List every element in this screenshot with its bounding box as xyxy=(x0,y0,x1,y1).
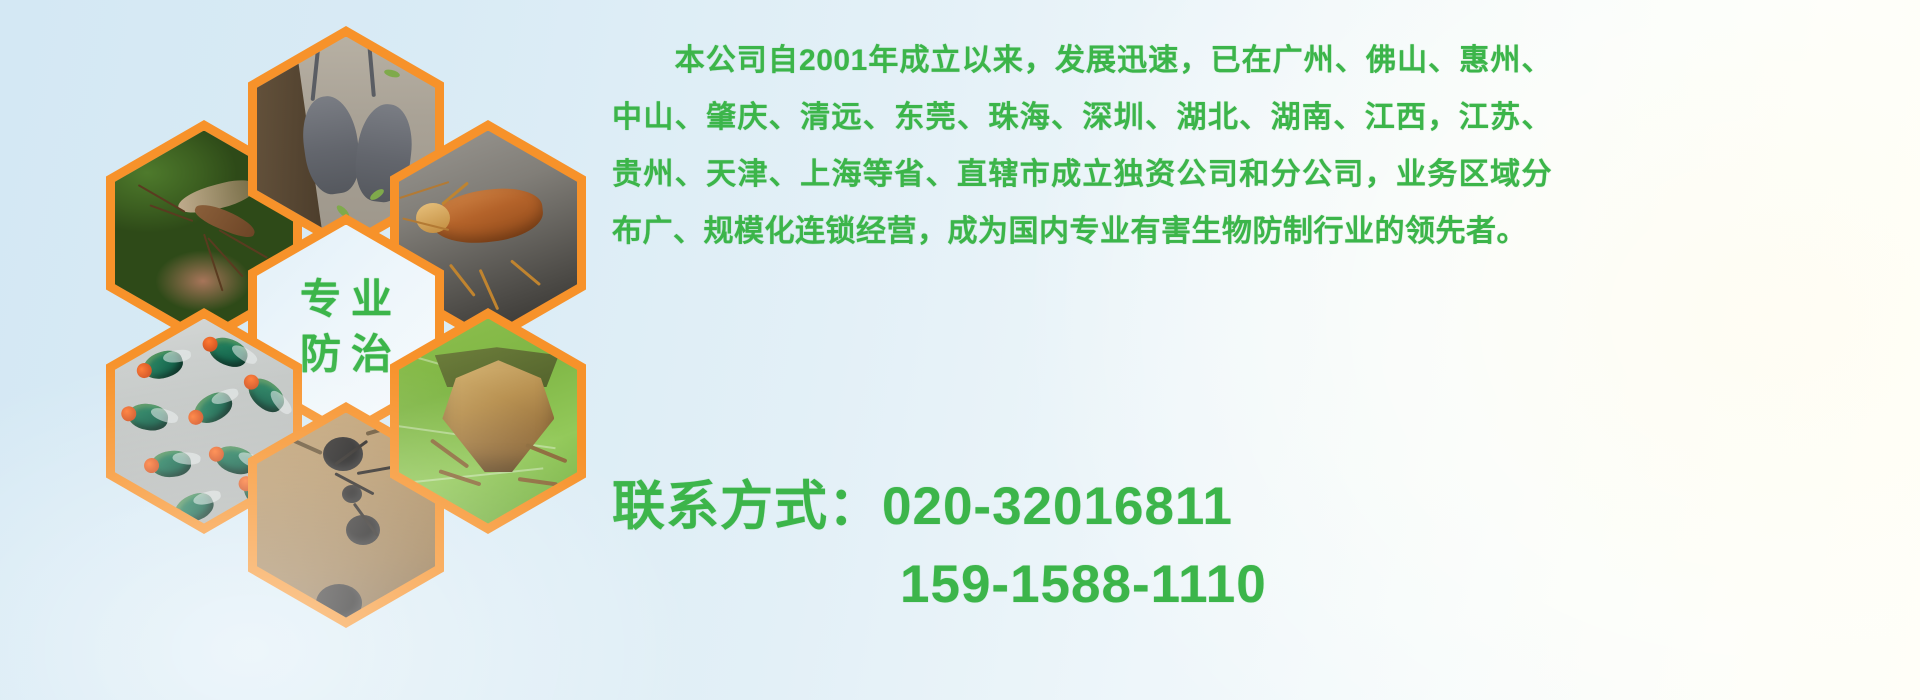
center-label-line-2: 防治 xyxy=(290,334,402,375)
honeycomb-gallery: 专业 防治 xyxy=(96,8,596,568)
promo-banner: 专业 防治 xyxy=(0,0,1920,700)
company-intro-text: 本公司自2001年成立以来，发展迅速，已在广州、佛山、惠州、中山、肇庆、清远、东… xyxy=(612,44,1552,248)
contact-label: 联系方式： xyxy=(612,477,882,536)
contact-primary-line[interactable]: 联系方式：020-32016811 xyxy=(612,468,1572,546)
company-intro-paragraph: 本公司自2001年成立以来，发展迅速，已在广州、佛山、惠州、中山、肇庆、清远、东… xyxy=(612,32,1552,260)
center-label-line-1: 专业 xyxy=(290,279,402,320)
phone-secondary[interactable]: 159-1588-1110 xyxy=(900,555,1267,614)
hex-image-stink-bug xyxy=(399,319,577,524)
contact-block: 联系方式：020-32016811 159-1588-1110 xyxy=(612,468,1572,624)
phone-primary[interactable]: 020-32016811 xyxy=(882,477,1233,536)
company-intro-block: 本公司自2001年成立以来，发展迅速，已在广州、佛山、惠州、中山、肇庆、清远、东… xyxy=(612,32,1552,260)
stink-bug-photo-icon xyxy=(399,319,577,524)
contact-secondary-line[interactable]: 159-1588-1110 xyxy=(612,546,1572,624)
